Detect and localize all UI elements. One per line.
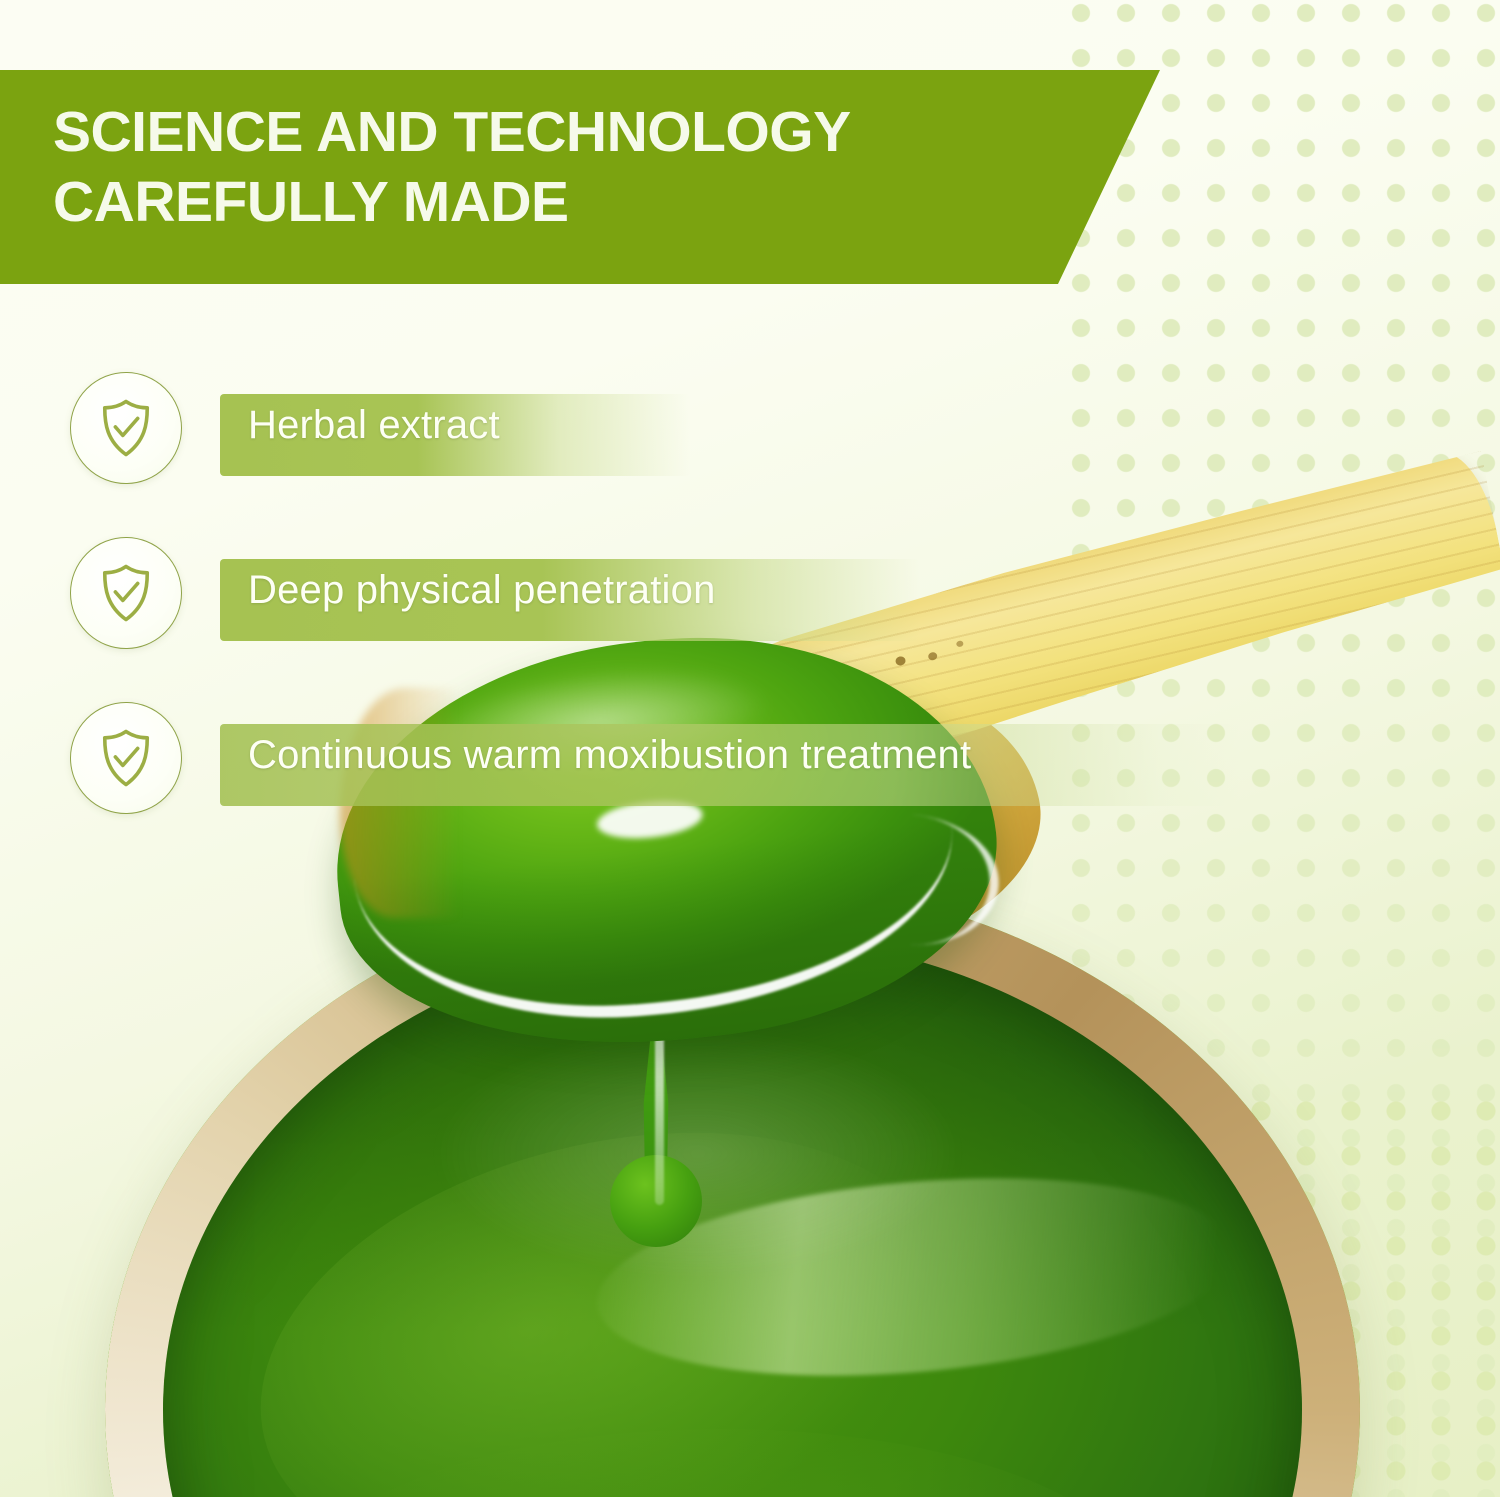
paste-drip-highlight (655, 1030, 664, 1205)
page-title: SCIENCE AND TECHNOLOGY CAREFULLY MADE (53, 98, 1103, 237)
promo-graphic: SCIENCE AND TECHNOLOGY CAREFULLY MADE He… (0, 0, 1500, 1497)
feature-label: Continuous warm moxibustion treatment (248, 733, 971, 778)
feature-row-2: Deep physical penetration (70, 537, 1030, 663)
feature-label: Herbal extract (248, 403, 500, 448)
paste-gloss (436, 1030, 960, 1277)
feature-label: Deep physical penetration (248, 568, 716, 613)
product-photo (0, 560, 1500, 1497)
feature-row-3: Continuous warm moxibustion treatment (70, 702, 1270, 828)
shield-check-icon (70, 372, 182, 484)
shield-check-icon (70, 702, 182, 814)
feature-row-1: Herbal extract (70, 372, 770, 498)
shield-check-icon (70, 537, 182, 649)
